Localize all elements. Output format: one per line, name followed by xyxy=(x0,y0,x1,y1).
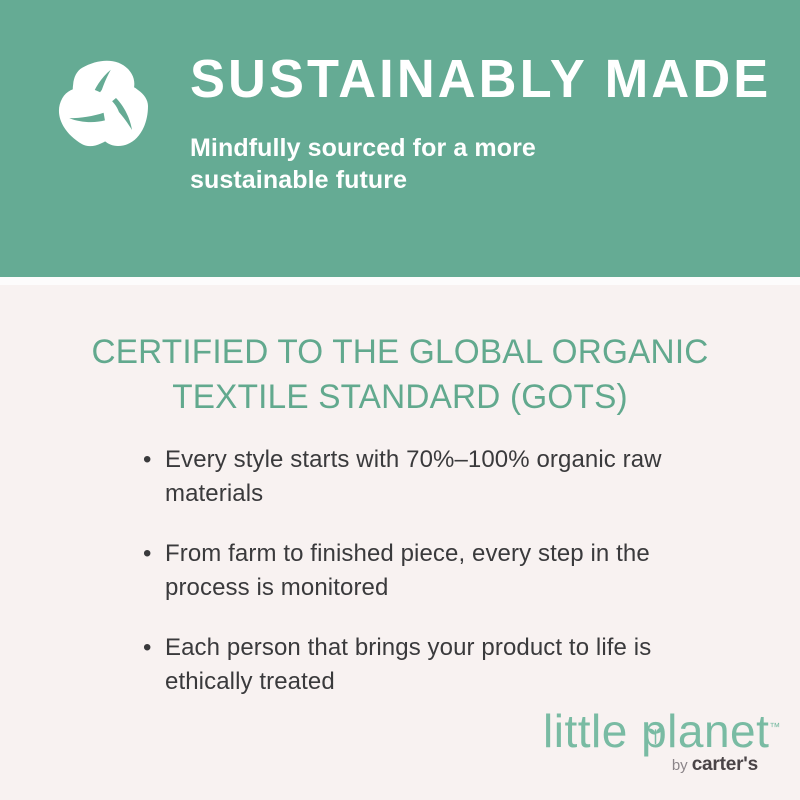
certification-section: CERTIFIED TO THE GLOBAL ORGANIC TEXTILE … xyxy=(0,285,800,800)
logo-byline: bycarter's xyxy=(543,755,758,774)
list-item: • Every style starts with 70%–100% organ… xyxy=(143,443,703,511)
sprout-leaf-icon xyxy=(647,725,664,744)
benefit-list: • Every style starts with 70%–100% organ… xyxy=(143,443,703,725)
list-item: • From farm to finished piece, every ste… xyxy=(143,537,703,605)
certification-heading: CERTIFIED TO THE GLOBAL ORGANIC TEXTILE … xyxy=(8,330,792,420)
list-item: • Each person that brings your product t… xyxy=(143,631,703,699)
list-item-label: Every style starts with 70%–100% organic… xyxy=(165,443,685,511)
hero-content: SUSTAINABLY MADE Mindfully sourced for a… xyxy=(48,46,760,196)
hero-text-block: SUSTAINABLY MADE Mindfully sourced for a… xyxy=(190,46,789,196)
list-item-label: From farm to finished piece, every step … xyxy=(165,537,685,605)
trademark-symbol: ™ xyxy=(769,722,780,734)
sustainably-made-infographic: SUSTAINABLY MADE Mindfully sourced for a… xyxy=(0,0,800,800)
band-divider xyxy=(0,277,800,285)
hero-band: SUSTAINABLY MADE Mindfully sourced for a… xyxy=(0,0,800,277)
bullet-point-icon: • xyxy=(143,537,165,571)
brand-logo: little planet™ bycarter's xyxy=(543,708,758,774)
bullet-point-icon: • xyxy=(143,443,165,477)
bullet-point-icon: • xyxy=(143,631,165,665)
page-title: SUSTAINABLY MADE xyxy=(190,52,771,106)
logo-byline-prefix: by xyxy=(672,757,688,774)
three-leaves-recycle-icon xyxy=(48,50,160,162)
hero-subtitle: Mindfully sourced for a more sustainable… xyxy=(190,132,620,196)
logo-wordmark: little planet™ xyxy=(543,708,758,754)
list-item-label: Each person that brings your product to … xyxy=(165,631,685,699)
logo-parent-brand: carter's xyxy=(692,754,758,775)
